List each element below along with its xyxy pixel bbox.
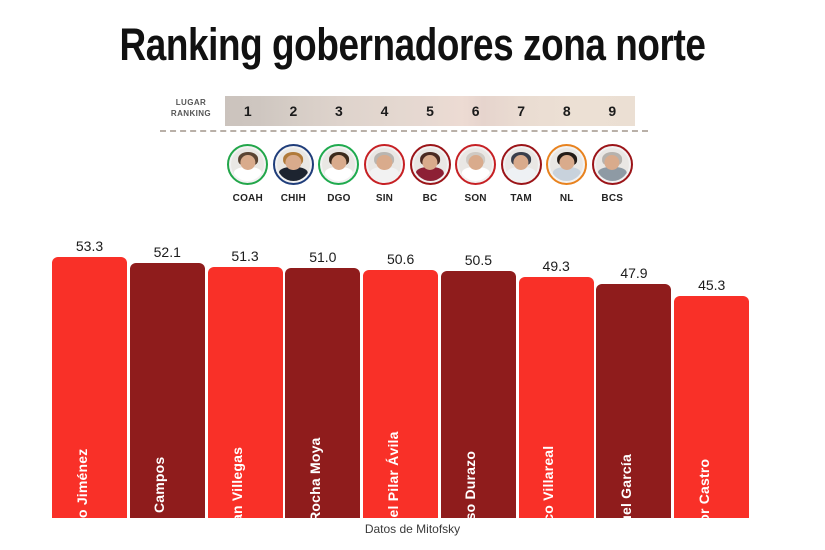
bar-name-label: Manolo Jiménez bbox=[74, 449, 90, 518]
state-code-label: TAM bbox=[510, 193, 532, 204]
state-code-label: SIN bbox=[376, 193, 393, 204]
bar-rect[interactable]: Víctor Castro bbox=[674, 296, 749, 518]
source-note: Datos de Mitofsky bbox=[0, 522, 825, 536]
avatar-portrait bbox=[550, 148, 583, 181]
bar-rect[interactable]: Maru Campos bbox=[130, 263, 205, 518]
avatar-portrait bbox=[459, 148, 492, 181]
bar-column: Manolo Jiménez53.3 bbox=[52, 222, 127, 518]
state-code-label: DGO bbox=[327, 193, 350, 204]
bar-value-label: 53.3 bbox=[52, 238, 127, 254]
bar-chart-plot: Manolo Jiménez53.3Maru Campos52.1Esteban… bbox=[52, 222, 752, 518]
bar-name-label: Américo Villareal bbox=[540, 446, 556, 518]
state-code-label: SON bbox=[464, 193, 486, 204]
ranking-label-line2: RANKING bbox=[160, 108, 222, 119]
avatar-cell-tam: TAM bbox=[498, 144, 544, 210]
avatar-nl-icon bbox=[546, 144, 587, 185]
avatar-portrait bbox=[368, 148, 401, 181]
state-code-label: BC bbox=[423, 193, 438, 204]
ranking-positions-bar: 123456789 bbox=[225, 96, 635, 126]
rank-position-1: 1 bbox=[225, 96, 271, 126]
bar-rect[interactable]: Rubén Rocha Moya bbox=[285, 268, 360, 518]
rank-position-6: 6 bbox=[453, 96, 499, 126]
bar-value-label: 51.3 bbox=[208, 248, 283, 264]
bar-column: Víctor Castro45.3 bbox=[674, 222, 749, 518]
avatar-portrait bbox=[322, 148, 355, 181]
chart-page: Ranking gobernadores zona norte LUGAR RA… bbox=[0, 0, 825, 550]
rank-position-4: 4 bbox=[362, 96, 408, 126]
avatar-cell-chih: CHIH bbox=[271, 144, 317, 210]
bar-name-label: Esteban Villegas bbox=[229, 447, 245, 518]
avatar-cell-nl: NL bbox=[544, 144, 590, 210]
bar-value-label: 50.5 bbox=[441, 252, 516, 268]
avatar-chih-icon bbox=[273, 144, 314, 185]
avatar-portrait bbox=[596, 148, 629, 181]
bar-column: Samuel García47.9 bbox=[596, 222, 671, 518]
ranking-strip: LUGAR RANKING 123456789 bbox=[160, 96, 648, 126]
bar-name-label: Marina del Pilar Ávila bbox=[385, 431, 401, 518]
avatar-cell-bcs: BCS bbox=[590, 144, 636, 210]
dashed-divider bbox=[160, 130, 648, 132]
bar-column: Marina del Pilar Ávila50.6 bbox=[363, 222, 438, 518]
bar-name-label: Alfonso Durazo bbox=[462, 451, 478, 518]
bar-rect[interactable]: Esteban Villegas bbox=[208, 267, 283, 518]
ranking-label-line1: LUGAR bbox=[160, 97, 222, 108]
bar-rect[interactable]: Manolo Jiménez bbox=[52, 257, 127, 518]
bar-rect[interactable]: Alfonso Durazo bbox=[441, 271, 516, 518]
bar-value-label: 51.0 bbox=[285, 249, 360, 265]
bar-value-label: 52.1 bbox=[130, 244, 205, 260]
avatar-bc-icon bbox=[410, 144, 451, 185]
avatar-portrait bbox=[414, 148, 447, 181]
bar-column: Maru Campos52.1 bbox=[130, 222, 205, 518]
avatar-cell-coah: COAH bbox=[225, 144, 271, 210]
avatar-portrait bbox=[231, 148, 264, 181]
rank-position-9: 9 bbox=[590, 96, 636, 126]
ranking-strip-label: LUGAR RANKING bbox=[160, 97, 222, 119]
bar-value-label: 45.3 bbox=[674, 277, 749, 293]
avatar-son-icon bbox=[455, 144, 496, 185]
bar-name-label: Maru Campos bbox=[151, 457, 167, 518]
bar-rect[interactable]: Marina del Pilar Ávila bbox=[363, 270, 438, 518]
page-title: Ranking gobernadores zona norte bbox=[74, 18, 751, 72]
state-avatars-row: COAHCHIHDGOSINBCSONTAMNLBCS bbox=[225, 144, 635, 210]
bar-name-label: Rubén Rocha Moya bbox=[307, 437, 323, 518]
bar-name-label: Samuel García bbox=[618, 454, 634, 518]
state-code-label: BCS bbox=[601, 193, 623, 204]
avatar-sin-icon bbox=[364, 144, 405, 185]
bar-value-label: 47.9 bbox=[596, 265, 671, 281]
avatar-cell-son: SON bbox=[453, 144, 499, 210]
bar-column: Rubén Rocha Moya51.0 bbox=[285, 222, 360, 518]
avatar-tam-icon bbox=[501, 144, 542, 185]
state-code-label: CHIH bbox=[281, 193, 306, 204]
rank-position-3: 3 bbox=[316, 96, 362, 126]
state-code-label: NL bbox=[560, 193, 574, 204]
bar-column: Esteban Villegas51.3 bbox=[208, 222, 283, 518]
rank-position-2: 2 bbox=[271, 96, 317, 126]
avatar-coah-icon bbox=[227, 144, 268, 185]
bar-rect[interactable]: Américo Villareal bbox=[519, 277, 594, 518]
avatar-dgo-icon bbox=[318, 144, 359, 185]
rank-position-5: 5 bbox=[407, 96, 453, 126]
bar-value-label: 50.6 bbox=[363, 251, 438, 267]
bar-name-label: Víctor Castro bbox=[696, 459, 712, 518]
avatar-cell-sin: SIN bbox=[362, 144, 408, 210]
avatar-cell-dgo: DGO bbox=[316, 144, 362, 210]
bar-rect[interactable]: Samuel García bbox=[596, 284, 671, 518]
avatar-portrait bbox=[505, 148, 538, 181]
avatar-cell-bc: BC bbox=[407, 144, 453, 210]
rank-position-7: 7 bbox=[498, 96, 544, 126]
rank-position-8: 8 bbox=[544, 96, 590, 126]
bar-value-label: 49.3 bbox=[519, 258, 594, 274]
state-code-label: COAH bbox=[233, 193, 263, 204]
bar-column: Américo Villareal49.3 bbox=[519, 222, 594, 518]
avatar-portrait bbox=[277, 148, 310, 181]
avatar-bcs-icon bbox=[592, 144, 633, 185]
bar-column: Alfonso Durazo50.5 bbox=[441, 222, 516, 518]
